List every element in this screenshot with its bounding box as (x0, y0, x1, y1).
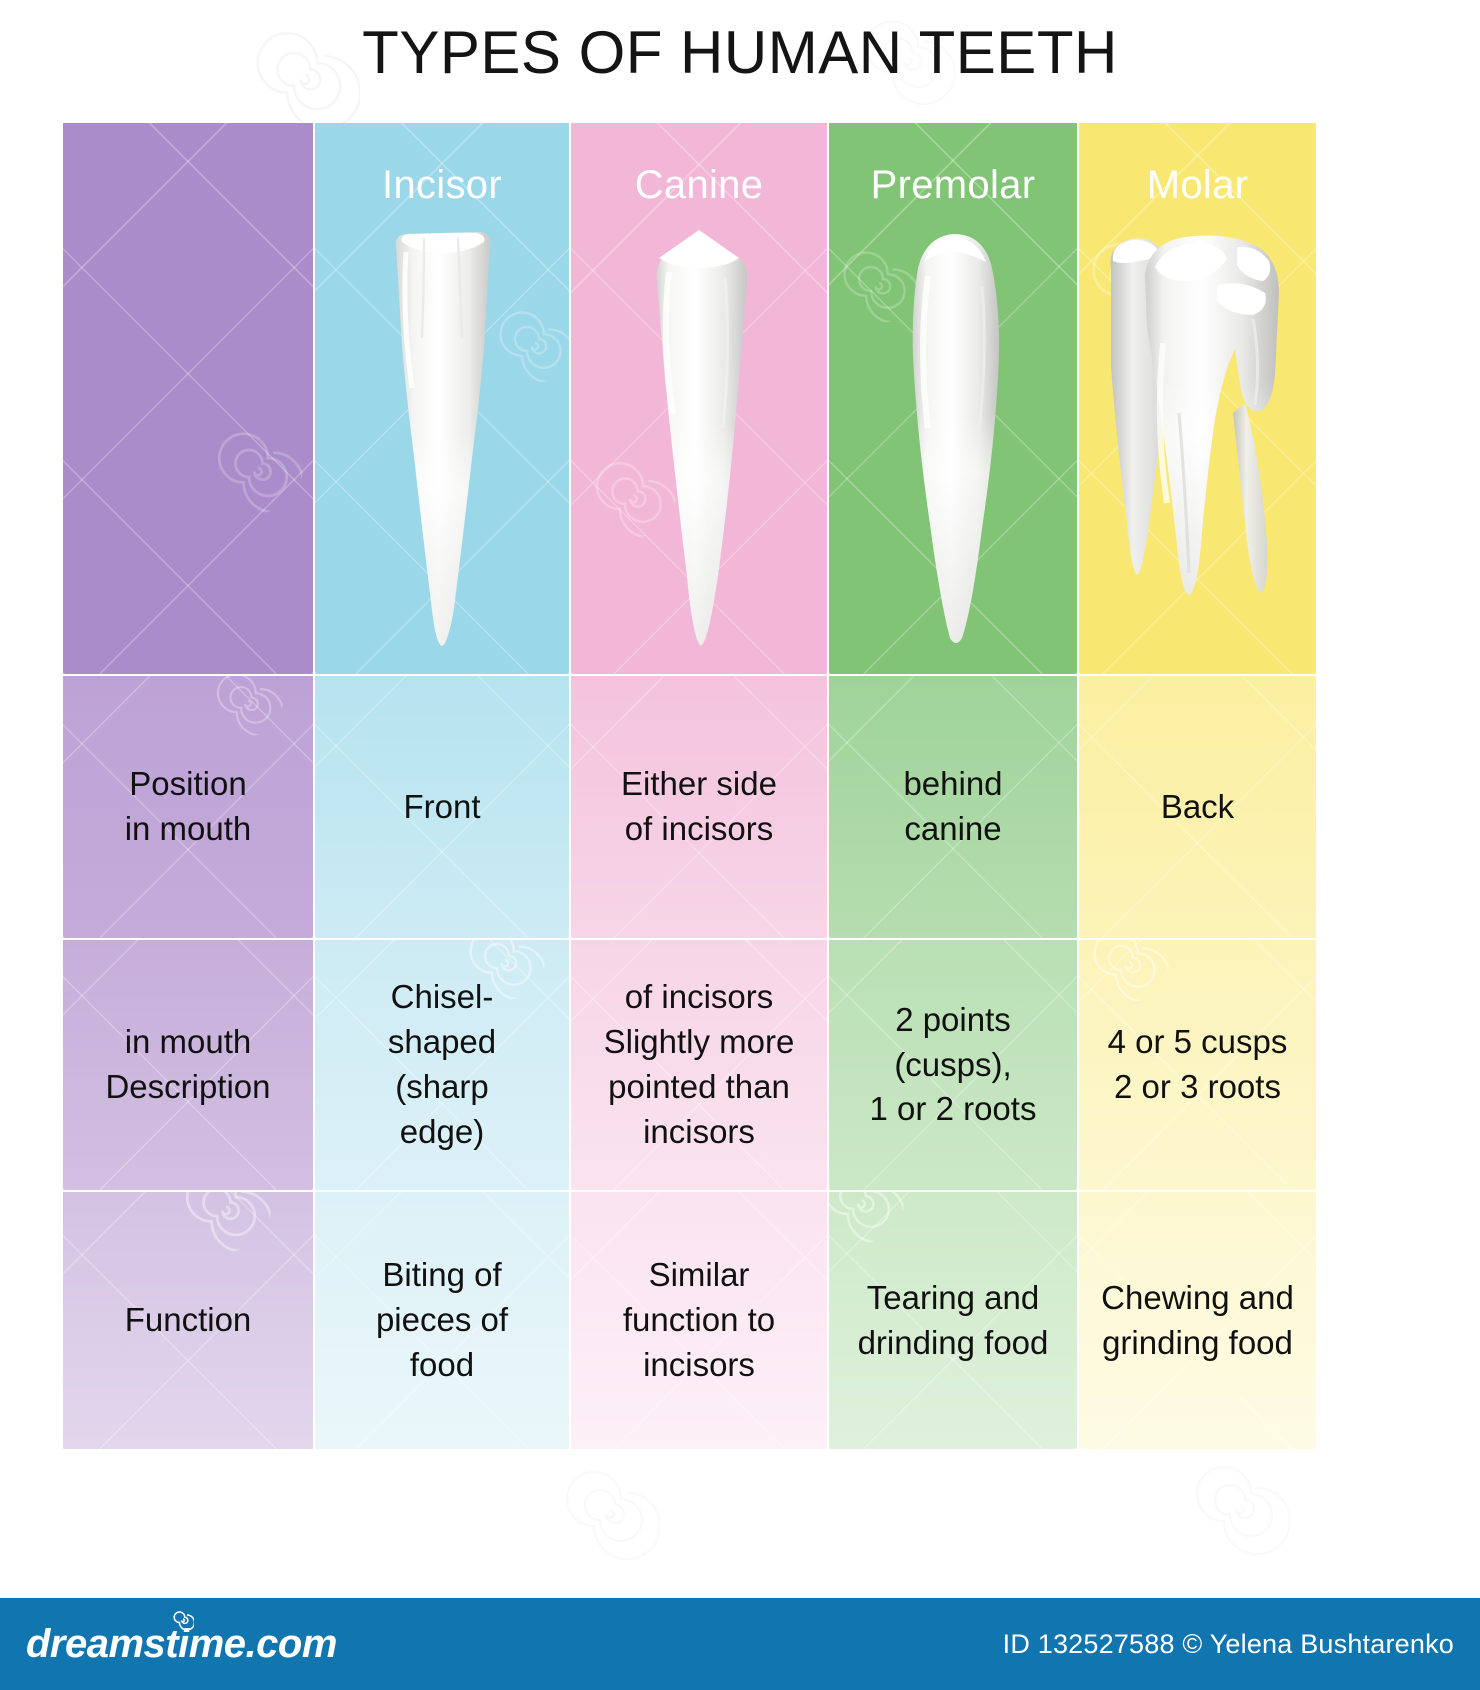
row-label-cell: Function (63, 1192, 313, 1449)
watermark-spiral-decor (560, 1460, 660, 1560)
header-cell-premolar: Premolar (829, 123, 1077, 674)
row-label-position: Position in mouth (117, 762, 260, 852)
data-cell-canine-description: of incisors Slightly more pointed than i… (571, 940, 827, 1190)
cell-text: behind canine (895, 762, 1010, 852)
header-cell-empty (63, 123, 313, 674)
header-cell-canine: Canine (571, 123, 827, 674)
cell-text: Either side of incisors (613, 762, 785, 852)
column-header-label: Molar (1147, 163, 1249, 208)
data-cell-premolar-function: Tearing and drinding food (829, 1192, 1077, 1449)
data-cell-canine-position: Either side of incisors (571, 676, 827, 938)
data-cell-premolar-description: 2 points (cusps), 1 or 2 roots (829, 940, 1077, 1190)
data-cell-incisor-position: Front (315, 676, 569, 938)
watermark-spiral-icon (1087, 233, 1182, 328)
row-label-cell: Position in mouth (63, 676, 313, 938)
data-cell-molar-description: 4 or 5 cusps 2 or 3 roots (1079, 940, 1316, 1190)
data-cell-molar-function: Chewing and grinding food (1079, 1192, 1316, 1449)
cell-text: Back (1153, 785, 1242, 830)
hatch-pattern (63, 123, 313, 674)
infographic-page: TYPES OF HUMAN TEETH Incisor (0, 0, 1480, 1690)
teeth-comparison-table: Incisor (63, 123, 1308, 1443)
cell-text: 4 or 5 cusps 2 or 3 roots (1100, 1020, 1296, 1110)
row-label-function: Function (117, 1298, 260, 1343)
watermark-spiral-icon (829, 1192, 904, 1243)
data-cell-canine-function: Similar function to incisors (571, 1192, 827, 1449)
cell-text: 2 points (cusps), 1 or 2 roots (862, 998, 1045, 1133)
cell-text: Chisel- shaped (sharp edge) (380, 975, 504, 1155)
watermark-spiral-icon (591, 453, 676, 538)
row-label-cell: in mouth Description (63, 940, 313, 1190)
cell-text: of incisors Slightly more pointed than i… (596, 975, 803, 1155)
row-label-description: in mouth Description (97, 1020, 278, 1110)
image-credit: ID 132527588 © Yelena Bushtarenko (1003, 1629, 1454, 1660)
cell-text: Biting of pieces of food (368, 1253, 516, 1388)
watermark-spiral-icon (1089, 940, 1169, 1002)
watermark-spiral-icon (495, 303, 569, 383)
column-header-label: Premolar (871, 163, 1036, 208)
header-cell-molar: Molar (1079, 123, 1316, 674)
cell-text: Chewing and grinding food (1093, 1276, 1302, 1366)
watermark-spiral-decor (1190, 1455, 1290, 1555)
cell-text: Tearing and drinding food (850, 1276, 1057, 1366)
watermark-spiral-icon (181, 1192, 271, 1252)
cell-text: Front (395, 785, 488, 830)
data-cell-molar-position: Back (1079, 676, 1316, 938)
watermark-spiral-icon (213, 676, 283, 736)
column-header-label: Incisor (382, 163, 502, 208)
watermark-spiral-icon (839, 243, 919, 323)
column-header-label: Canine (635, 163, 764, 208)
cell-text: Similar function to incisors (615, 1253, 783, 1388)
dreamstime-spiral-icon (172, 1608, 194, 1630)
watermark-spiral-icon (213, 423, 303, 513)
dreamstime-logo[interactable]: dreamstime.com (26, 1622, 337, 1667)
data-cell-premolar-position: behind canine (829, 676, 1077, 938)
header-cell-incisor: Incisor (315, 123, 569, 674)
page-title: TYPES OF HUMAN TEETH (0, 18, 1480, 87)
data-cell-incisor-function: Biting of pieces of food (315, 1192, 569, 1449)
data-cell-incisor-description: Chisel- shaped (sharp edge) (315, 940, 569, 1190)
footer-bar: dreamstime.com ID 132527588 © Yelena Bus… (0, 1598, 1480, 1690)
